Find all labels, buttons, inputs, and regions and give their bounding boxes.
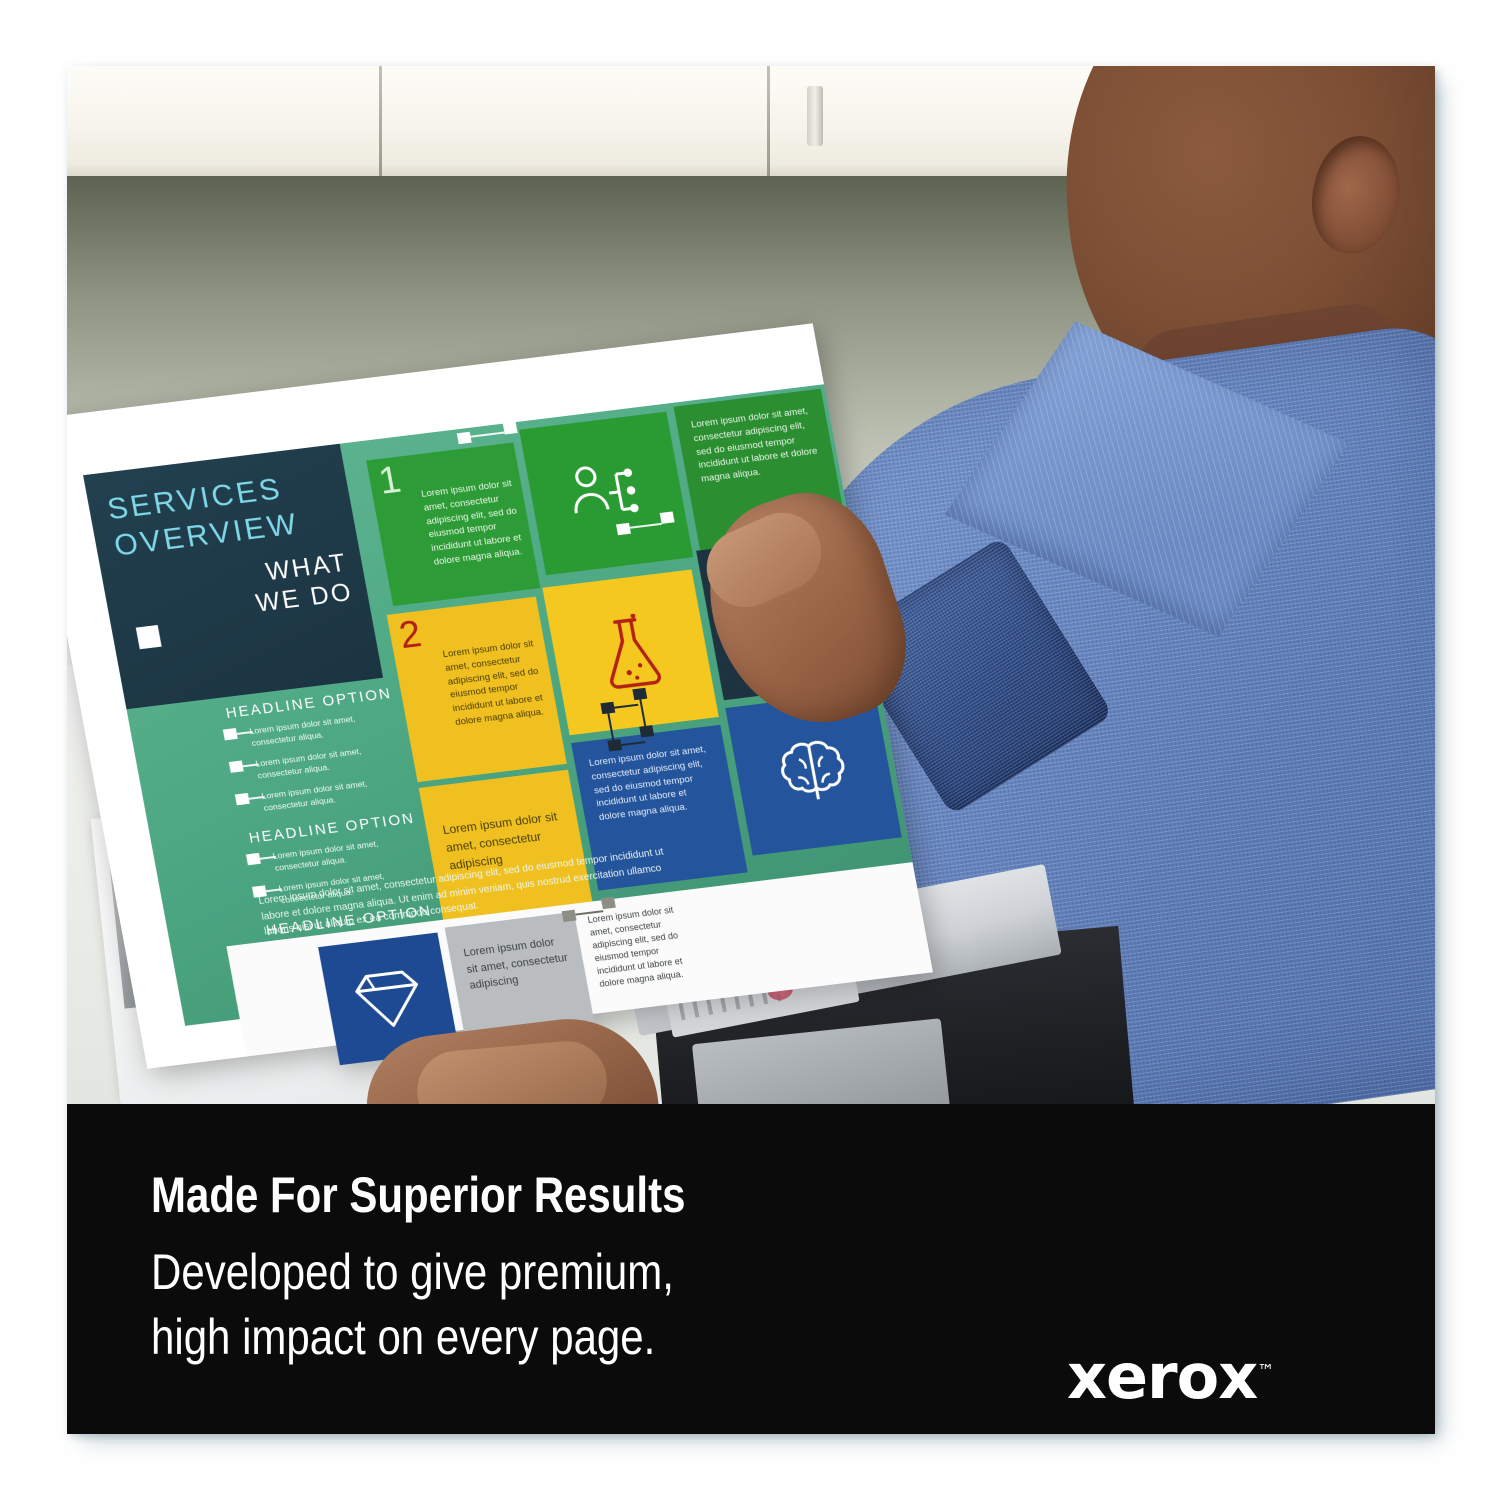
- ad-banner: Made For Superior Results Developed to g…: [67, 1104, 1435, 1434]
- product-photo: SERVICES OVERVIEW WHAT WE DO 1 Lorem ips…: [67, 66, 1435, 1104]
- xerox-logo: xerox™: [1067, 1340, 1273, 1413]
- banner-headline: Made For Superior Results: [151, 1166, 685, 1224]
- banner-subline-2: high impact on every page.: [151, 1305, 674, 1370]
- hand-upper: [684, 474, 926, 748]
- banner-subline-1: Developed to give premium,: [151, 1240, 674, 1305]
- xerox-ad-card: SERVICES OVERVIEW WHAT WE DO 1 Lorem ips…: [67, 66, 1435, 1434]
- xerox-wordmark: xerox: [1067, 1340, 1257, 1413]
- trademark-symbol: ™: [1257, 1361, 1273, 1381]
- banner-subline: Developed to give premium, high impact o…: [151, 1240, 674, 1370]
- hands-layer: [67, 66, 1435, 1104]
- page-canvas: SERVICES OVERVIEW WHAT WE DO 1 Lorem ips…: [0, 0, 1500, 1500]
